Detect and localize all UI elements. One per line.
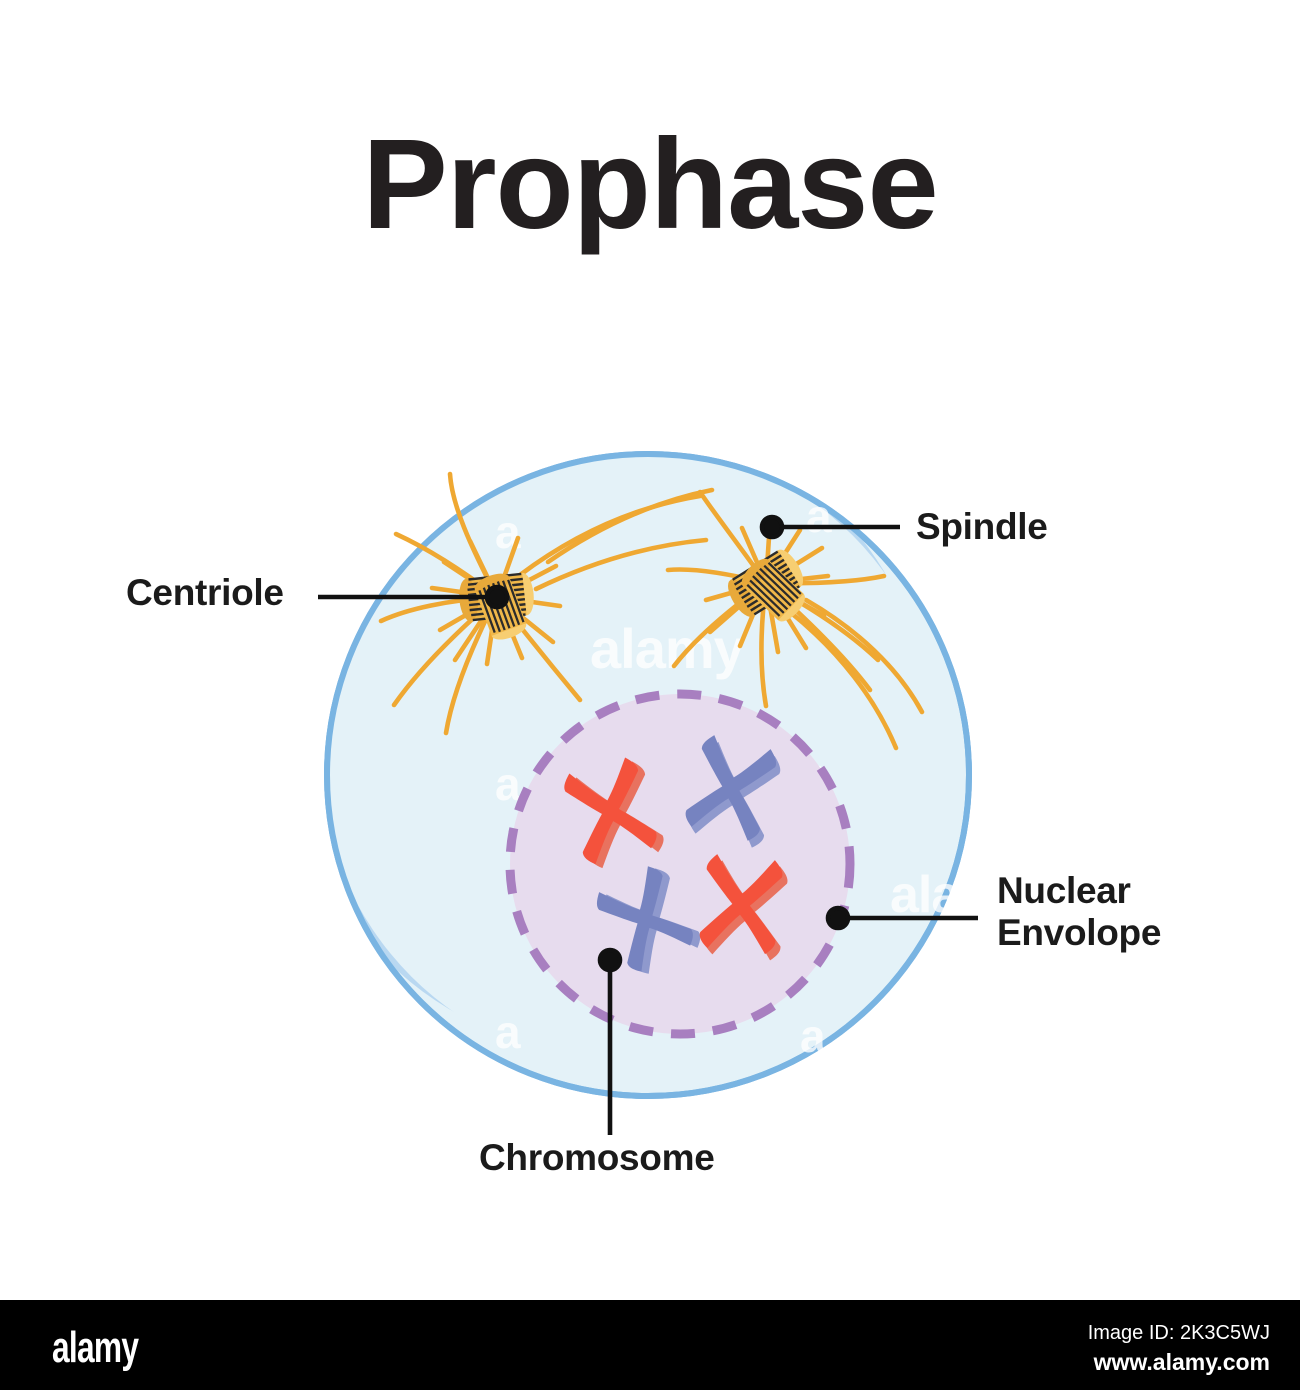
alamy-logo: alamy [52, 1326, 138, 1370]
footer-meta: Image ID: 2K3C5WJ www.alamy.com [1088, 1320, 1270, 1378]
svg-text:a: a [495, 506, 521, 558]
svg-text:a: a [800, 1010, 826, 1062]
alamy-footer-bar: alamy Image ID: 2K3C5WJ www.alamy.com [0, 1300, 1300, 1390]
label-centriole: Centriole [126, 572, 284, 614]
svg-text:alamy: alamy [590, 617, 745, 680]
illustration-canvas: Prophase [0, 0, 1300, 1300]
label-chromosome: Chromosome [479, 1137, 714, 1179]
nucleus [510, 694, 850, 1034]
svg-text:a: a [806, 490, 832, 542]
website-text: www.alamy.com [1088, 1347, 1270, 1378]
svg-text:ala: ala [890, 866, 961, 924]
label-spindle: Spindle [916, 506, 1048, 548]
image-id-text: Image ID: 2K3C5WJ [1088, 1320, 1270, 1347]
label-nuclear-envelope: Nuclear Envolope [997, 870, 1161, 954]
svg-text:a: a [495, 1006, 521, 1058]
prophase-diagram: a a alamy a a a ala a a s [0, 0, 1300, 1300]
